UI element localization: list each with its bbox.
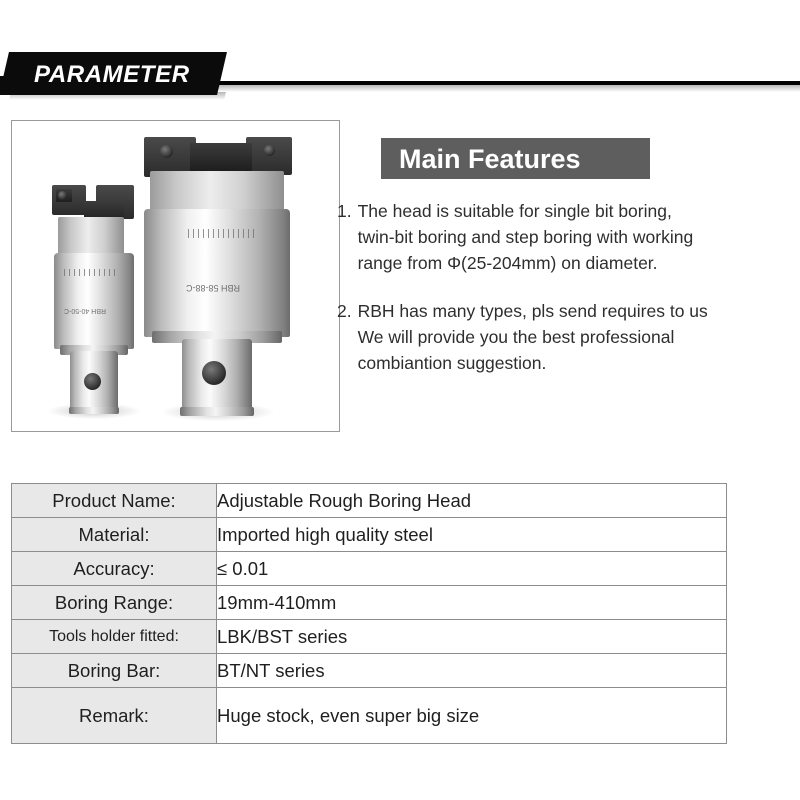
boring-head-small: RBH 40-50-C <box>40 181 150 421</box>
spec-value: Adjustable Rough Boring Head <box>217 484 727 518</box>
spec-value: Imported high quality steel <box>217 518 727 552</box>
insert-screw-large-right <box>264 145 275 156</box>
shank-base-small <box>69 407 119 414</box>
spec-label: Boring Bar: <box>12 654 217 688</box>
table-row: Boring Range: 19mm-410mm <box>12 586 727 620</box>
insert-screw-small-left <box>58 191 67 200</box>
engraving-large: RBH 58-88-C <box>186 283 240 293</box>
main-features-heading: Main Features <box>399 144 581 175</box>
feature-text: RBH has many types, pls send requires to… <box>358 298 792 376</box>
table-row: Remark: Huge stock, even super big size <box>12 688 727 744</box>
shank-screw-small <box>84 373 101 390</box>
table-row: Product Name: Adjustable Rough Boring He… <box>12 484 727 518</box>
boring-head-large: RBH 58-88-C <box>138 133 298 423</box>
spec-label: Accuracy: <box>12 552 217 586</box>
feature-number: 2. <box>337 298 358 376</box>
measuring-scale-large <box>188 229 256 238</box>
insert-screw-large-left <box>160 145 173 158</box>
main-features-heading-box: Main Features <box>381 138 650 179</box>
table-row: Tools holder fitted: LBK/BST series <box>12 620 727 654</box>
table-row: Material: Imported high quality steel <box>12 518 727 552</box>
cutter-chip-large-center <box>190 143 252 171</box>
spec-value: BT/NT series <box>217 654 727 688</box>
feature-text: The head is suitable for single bit bori… <box>358 198 792 276</box>
shank-screw-large <box>202 361 226 385</box>
feature-item: 2. RBH has many types, pls send requires… <box>337 298 792 376</box>
specification-table: Product Name: Adjustable Rough Boring He… <box>11 483 727 744</box>
feature-item: 1. The head is suitable for single bit b… <box>337 198 792 276</box>
spec-label: Tools holder fitted: <box>12 620 217 654</box>
head-body-small <box>54 253 134 349</box>
page-header: PARAMETER <box>0 50 800 100</box>
spec-label: Product Name: <box>12 484 217 518</box>
spec-value: 19mm-410mm <box>217 586 727 620</box>
spec-value: Huge stock, even super big size <box>217 688 727 744</box>
spec-label: Remark: <box>12 688 217 744</box>
feature-number: 1. <box>337 198 358 276</box>
page-title: PARAMETER <box>34 61 190 89</box>
table-row: Accuracy: ≤ 0.01 <box>12 552 727 586</box>
measuring-scale-small <box>64 269 116 276</box>
product-photo: RBH 40-50-C RBH 58-88-C <box>11 120 340 432</box>
shank-base-large <box>180 407 254 416</box>
spec-value: LBK/BST series <box>217 620 727 654</box>
engraving-small: RBH 40-50-C <box>64 307 106 314</box>
cutter-insert-large-right <box>246 137 292 175</box>
spec-label: Boring Range: <box>12 586 217 620</box>
spec-value: ≤ 0.01 <box>217 552 727 586</box>
main-features-list: 1. The head is suitable for single bit b… <box>337 198 792 376</box>
spec-label: Material: <box>12 518 217 552</box>
table-row: Boring Bar: BT/NT series <box>12 654 727 688</box>
header-rule-shadow <box>155 85 800 92</box>
